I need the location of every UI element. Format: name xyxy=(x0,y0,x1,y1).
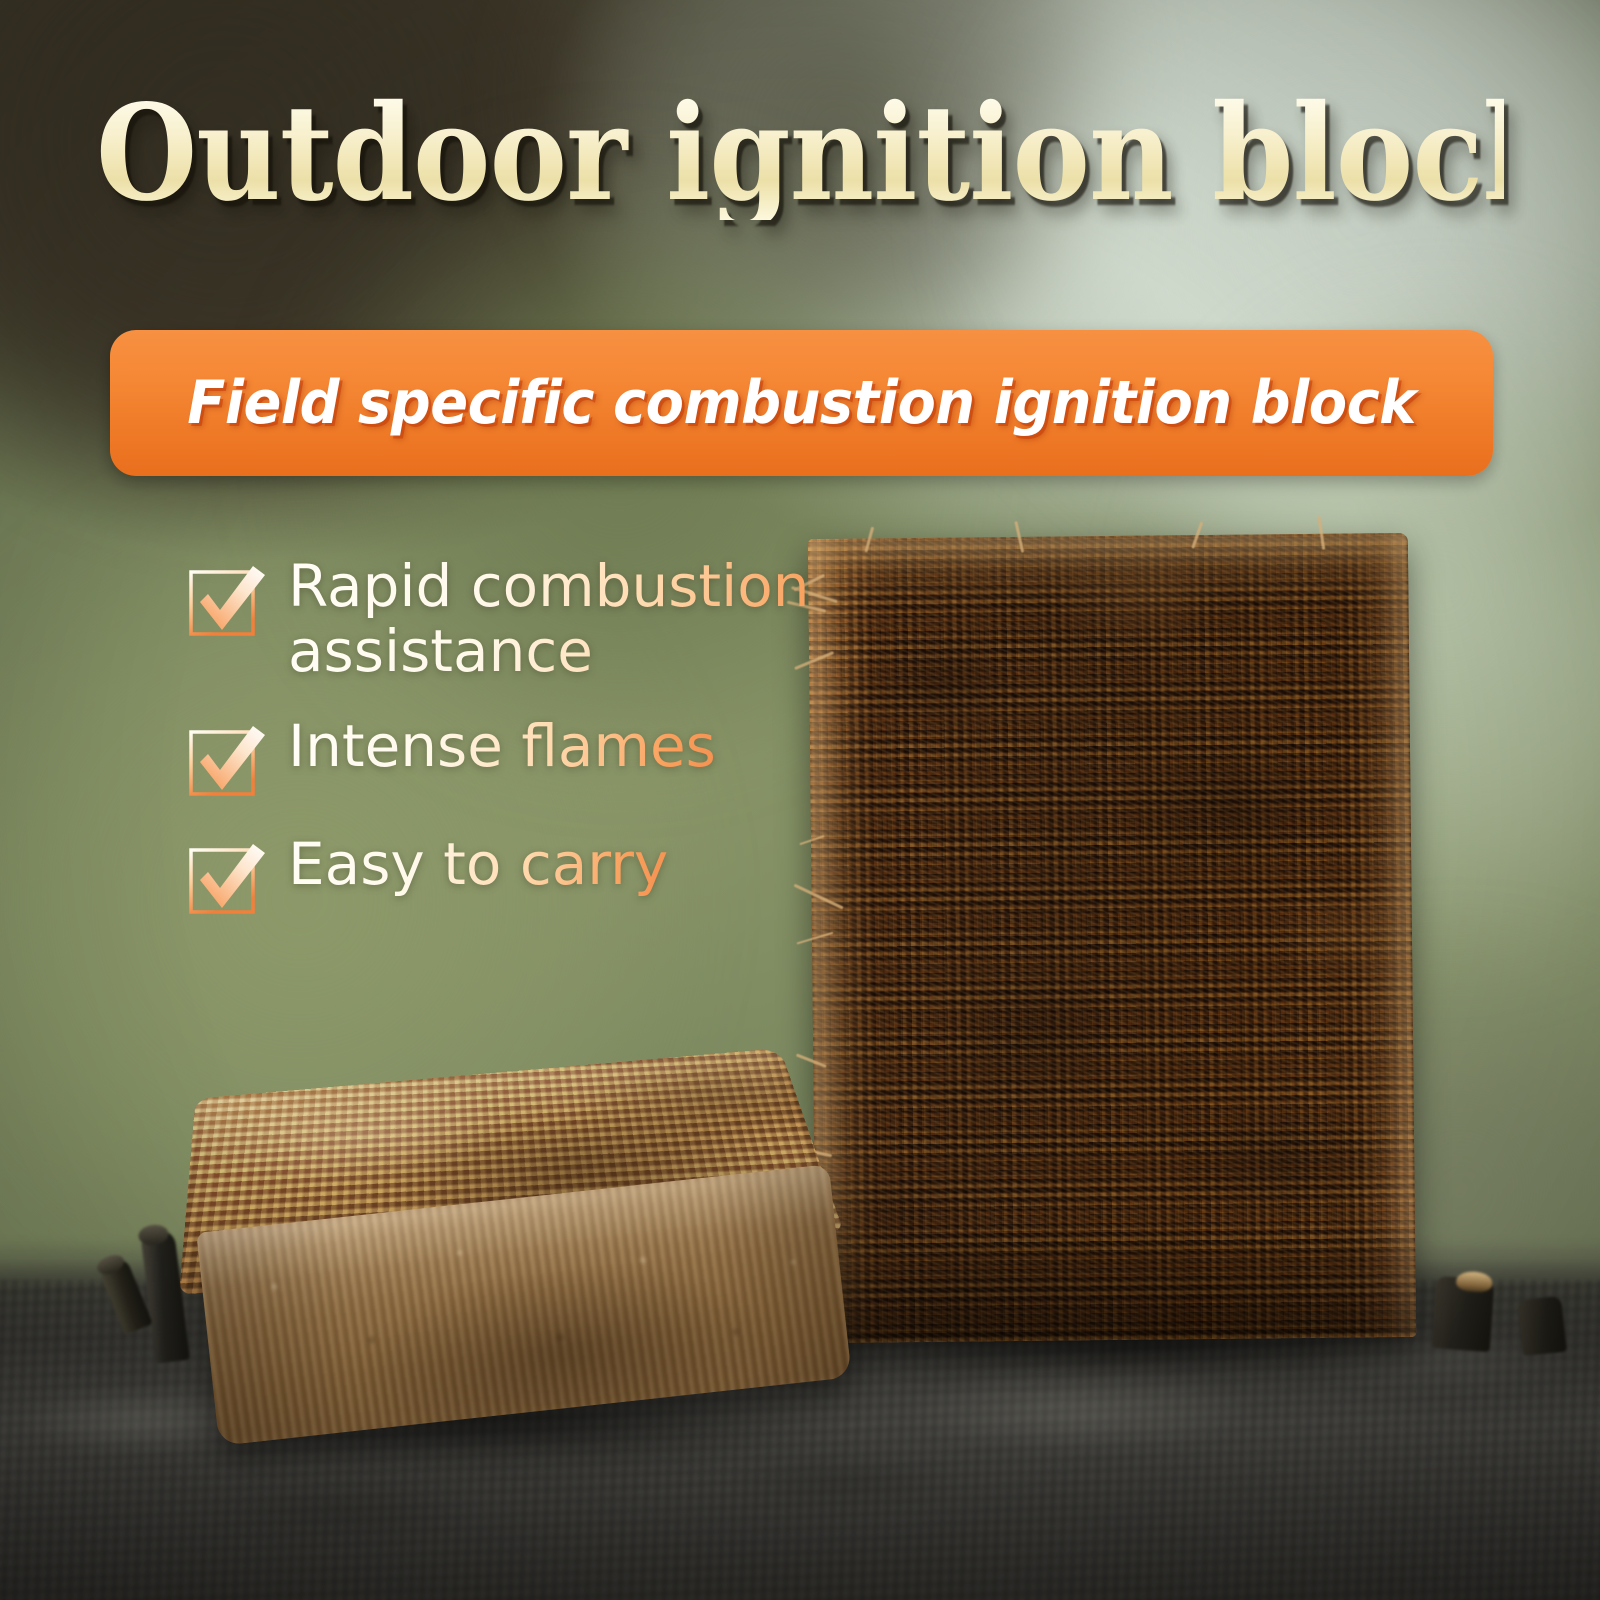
subtitle-text: Field specific combustion ignition block xyxy=(187,368,1416,438)
ignition-block-standing xyxy=(808,533,1416,1343)
twig-stub-right-small xyxy=(1517,1296,1567,1356)
feature-item-rapid-combustion-assistance: Rapid combustion assistance xyxy=(186,552,866,684)
block-top-highlight xyxy=(808,533,1409,609)
page-title: Outdoor ignition block xyxy=(96,88,1504,220)
feature-item-easy-to-carry: Easy to carry xyxy=(186,830,866,920)
checkbox-checked-icon xyxy=(186,718,270,802)
feature-label: Easy to carry xyxy=(288,830,668,897)
twig-stub-right-cut xyxy=(1432,1276,1495,1352)
feature-label: Rapid combustion assistance xyxy=(288,552,866,684)
feature-list: Rapid combustion assistance xyxy=(186,552,866,948)
product-ad-image: Outdoor ignition block Field specific co… xyxy=(0,0,1600,1600)
feature-label: Intense flames xyxy=(288,712,716,779)
feature-item-intense-flames: Intense flames xyxy=(186,712,866,802)
subtitle-banner: Field specific combustion ignition block xyxy=(110,330,1493,476)
checkbox-checked-icon xyxy=(186,836,270,920)
ignition-block-lying xyxy=(168,1012,868,1452)
block-bottom-shadow xyxy=(815,1217,1416,1343)
checkbox-checked-icon xyxy=(186,558,270,642)
